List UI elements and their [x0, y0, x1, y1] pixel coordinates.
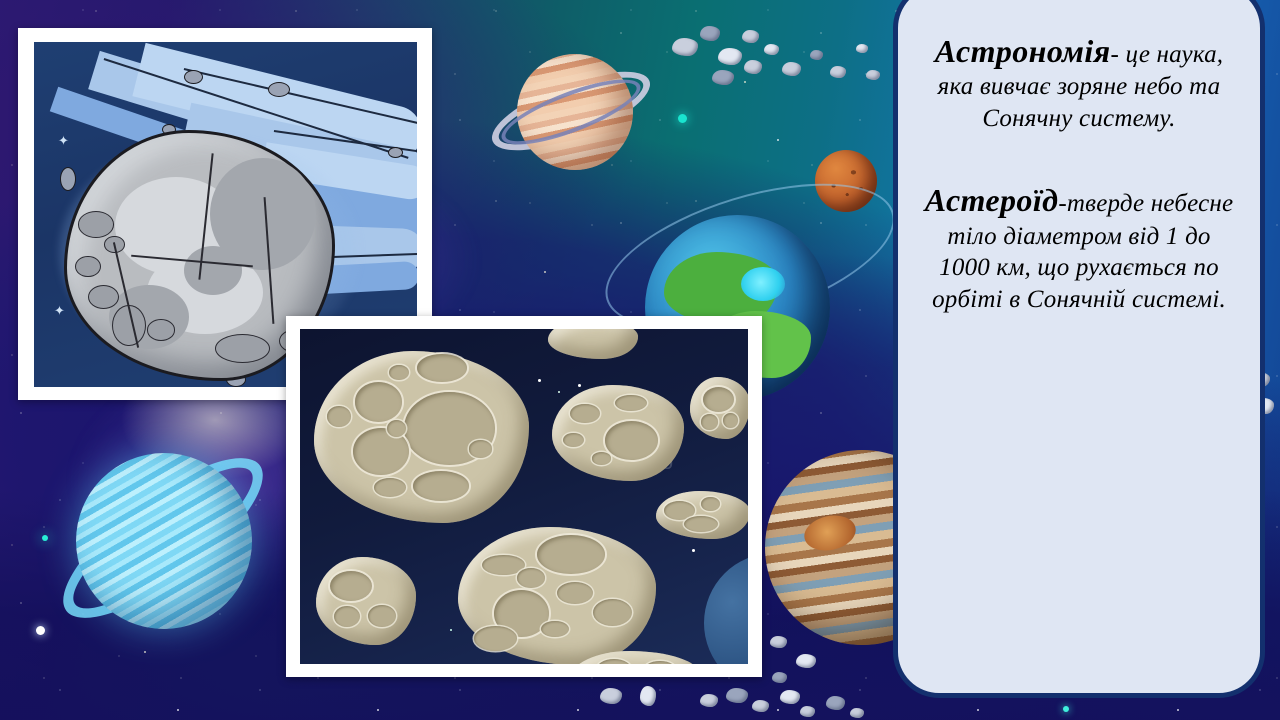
- field-asteroid: [316, 557, 416, 645]
- crater: [330, 571, 372, 601]
- field-asteroid: [552, 385, 684, 481]
- belt-rock: [764, 44, 779, 55]
- crater: [703, 387, 734, 412]
- crater: [563, 433, 584, 447]
- field-asteroid: [548, 329, 638, 359]
- crater: [541, 621, 569, 638]
- belt-rock: [718, 48, 742, 65]
- crater: [417, 354, 466, 382]
- crater: [596, 659, 632, 664]
- crater: [701, 414, 718, 430]
- field-asteroid-large: [458, 527, 656, 664]
- paragraph-asteroid: Астероїд-тверде небесне тіло діаметром в…: [924, 180, 1234, 315]
- small-asteroid: [268, 82, 290, 97]
- crater: [684, 516, 718, 532]
- asteroid-field-image: envato envato: [300, 329, 748, 664]
- belt-rock: [796, 654, 816, 668]
- asteroid-crater: [75, 256, 101, 278]
- belt-rock: [672, 38, 698, 56]
- crater: [615, 395, 647, 411]
- asteroid-field-photo[interactable]: envato envato: [286, 316, 762, 677]
- belt-rock: [744, 60, 762, 74]
- crater: [374, 478, 406, 497]
- belt-rock: [752, 700, 769, 712]
- jupiter-great-red-spot: [801, 511, 859, 555]
- cyan-ringed-planet: [48, 425, 278, 655]
- background-planet-edge: [704, 553, 748, 664]
- asteroid-crater: [147, 319, 176, 341]
- crater: [570, 404, 599, 423]
- paragraph-astronomy: Астрономія- це наука, яка вивчає зоряне …: [924, 31, 1234, 134]
- crater: [517, 568, 545, 587]
- crater: [723, 413, 738, 428]
- crater: [592, 452, 612, 464]
- asteroid-crater: [78, 211, 114, 238]
- belt-rock: [712, 70, 734, 85]
- crater: [474, 626, 518, 651]
- small-asteroid: [60, 167, 76, 191]
- star-dot: [692, 549, 695, 552]
- belt-rock: [782, 62, 801, 76]
- small-asteroid: [184, 70, 203, 84]
- star-sparkle: ✦: [54, 304, 65, 317]
- belt-rock: [780, 690, 800, 704]
- slide-canvas: ✦ ✦: [0, 0, 1280, 720]
- crater: [701, 497, 720, 511]
- field-asteroid-small: [690, 377, 748, 439]
- belt-rock: [640, 686, 656, 706]
- star-bright-2: [678, 114, 687, 123]
- crater: [368, 605, 396, 628]
- crater: [557, 582, 593, 604]
- star-dot: [578, 384, 581, 387]
- small-asteroid: [388, 147, 403, 158]
- crater: [389, 365, 408, 380]
- field-asteroid-small: [656, 491, 748, 539]
- field-asteroid-large: [314, 351, 529, 523]
- asteroid-shade: [184, 246, 242, 295]
- crater: [469, 440, 493, 457]
- keyword-astronomy: Астрономія: [935, 33, 1111, 69]
- belt-rock: [810, 50, 823, 60]
- star-sparkle: ✦: [58, 134, 69, 147]
- belt-rock: [826, 696, 845, 710]
- earth-polar-glow: [741, 267, 785, 301]
- crater: [593, 599, 633, 627]
- belt-rock: [770, 636, 787, 648]
- belt-rock: [830, 66, 846, 78]
- asteroid-crater: [88, 285, 119, 309]
- crater: [334, 606, 360, 627]
- asteroid-crater: [215, 334, 270, 363]
- belt-rock: [700, 26, 720, 41]
- star-dot: [558, 391, 560, 393]
- keyword-asteroid: Астероїд: [925, 182, 1059, 218]
- belt-rock: [726, 688, 748, 703]
- belt-rock: [866, 70, 880, 80]
- belt-rock: [856, 44, 868, 53]
- definitions-panel: Астрономія- це наука, яка вивчає зоряне …: [893, 0, 1265, 698]
- crater: [413, 471, 469, 500]
- belt-rock: [850, 708, 864, 718]
- belt-rock: [600, 688, 622, 704]
- belt-rock: [742, 30, 759, 43]
- crater: [537, 535, 604, 574]
- crater: [643, 661, 677, 664]
- crater: [327, 406, 351, 427]
- star-dot: [538, 379, 541, 382]
- belt-rock: [800, 706, 815, 717]
- cyan-planet-body: [76, 453, 252, 629]
- belt-rock: [772, 672, 787, 683]
- star-dot: [450, 629, 452, 631]
- saturn-planet: [495, 40, 645, 190]
- star-bright-4: [36, 626, 45, 635]
- belt-rock: [700, 694, 718, 707]
- star-bright-6: [1063, 706, 1069, 712]
- crater: [605, 421, 658, 459]
- crater: [355, 382, 402, 422]
